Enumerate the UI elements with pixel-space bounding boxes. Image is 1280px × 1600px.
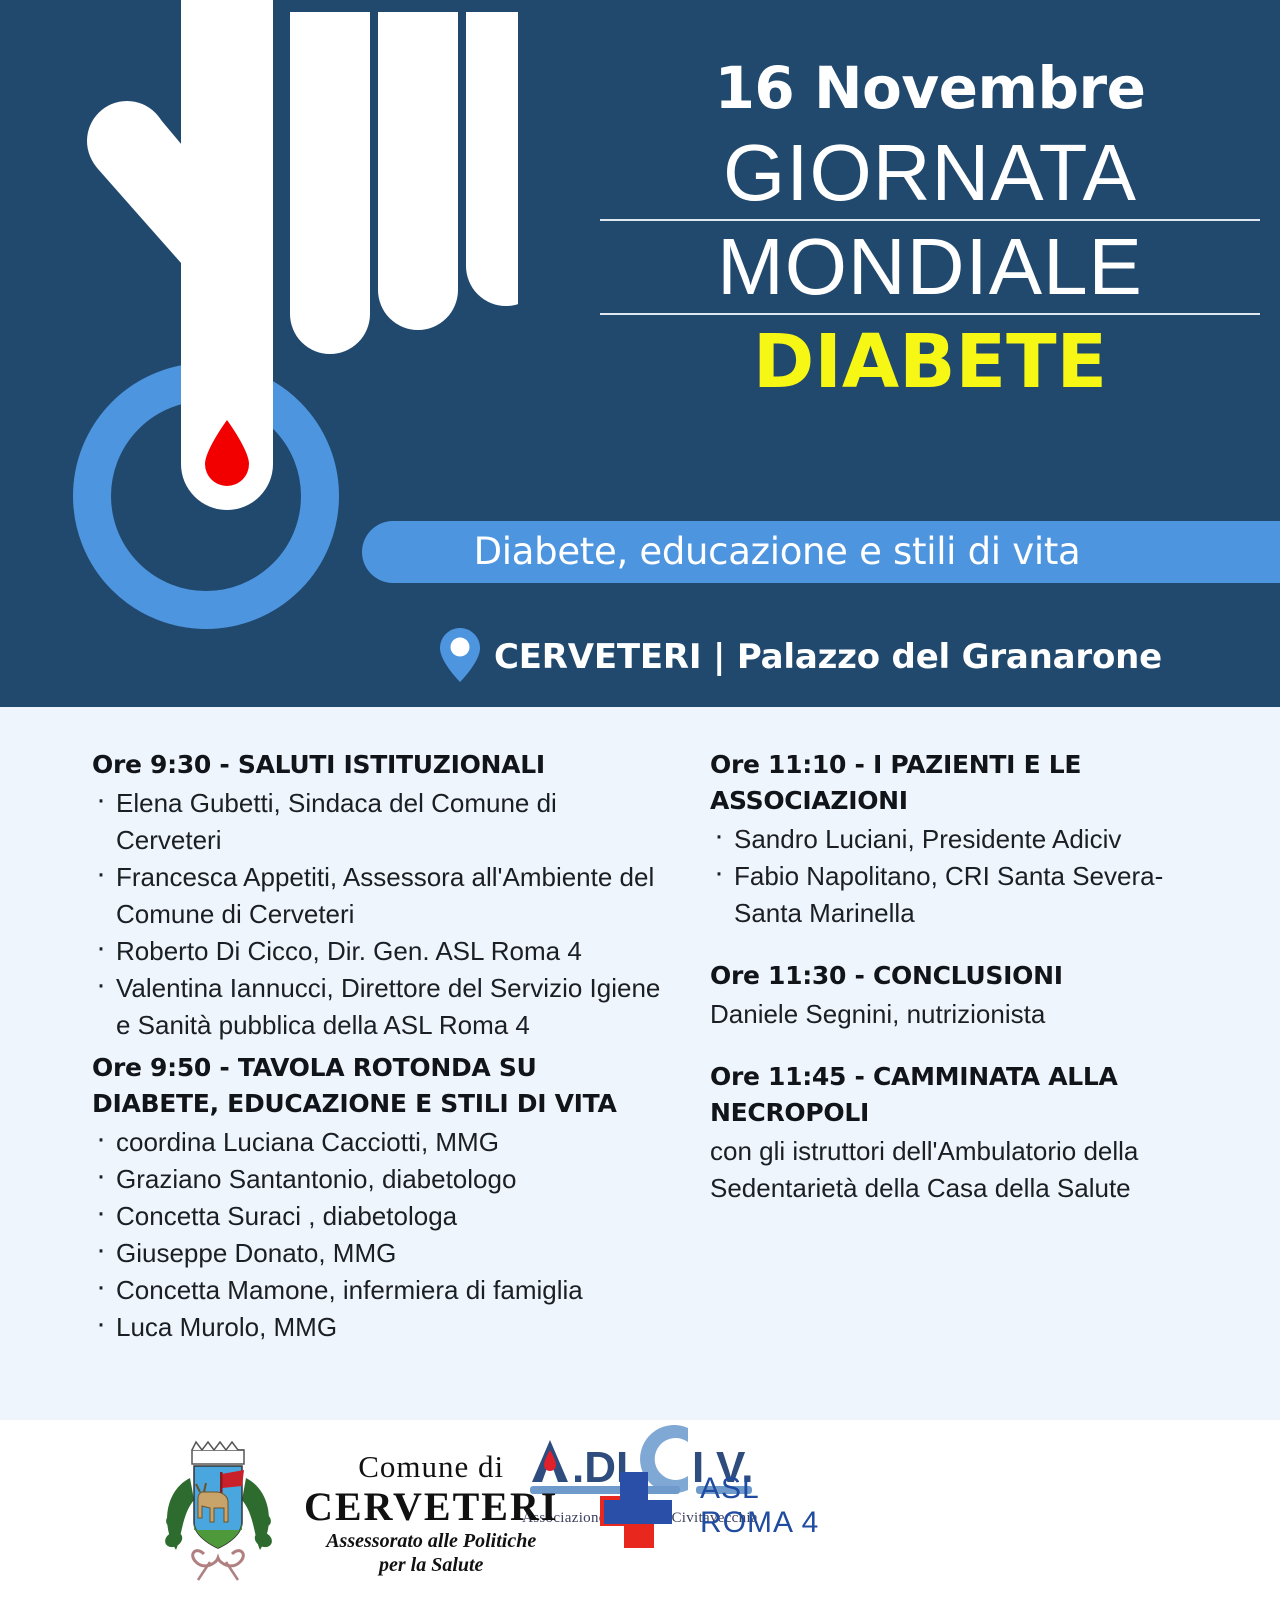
- comune-wordmark: Comune di CERVETERI Assessorato alle Pol…: [304, 1449, 558, 1577]
- logo-comune-cerveteri: Comune di CERVETERI Assessorato alle Pol…: [148, 1438, 558, 1588]
- title-line-1: GIORNATA: [600, 130, 1260, 216]
- subtitle-pill: Diabete, educazione e stili di vita: [362, 521, 1280, 583]
- hero-banner: 16 Novembre GIORNATA MONDIALE DIABETE Di…: [0, 0, 1280, 707]
- spacer: [710, 932, 1190, 958]
- list-item: Roberto Di Cicco, Dir. Gen. ASL Roma 4: [92, 933, 667, 970]
- location-line: CERVETERI | Palazzo del Granarone: [440, 626, 1200, 687]
- list-item: Fabio Napolitano, CRI Santa Severa-Santa…: [710, 858, 1190, 932]
- list-item: Valentina Iannucci, Direttore del Serviz…: [92, 970, 667, 1044]
- map-pin-icon: [440, 628, 480, 687]
- program-block: Ore 11:10 - I PAZIENTI E LE ASSOCIAZIONI…: [710, 747, 1190, 932]
- program-block: Ore 9:50 - TAVOLA ROTONDA SU DIABETE, ED…: [92, 1050, 667, 1346]
- program-block: Ore 9:30 - SALUTI ISTITUZIONALI Elena Gu…: [92, 747, 667, 1044]
- spacer: [710, 1033, 1190, 1059]
- list-item: Concetta Mamone, infermiera di famiglia: [92, 1272, 667, 1309]
- title-divider-top: [600, 219, 1260, 221]
- headline-block: 16 Novembre GIORNATA MONDIALE DIABETE: [600, 56, 1260, 403]
- program-column-left: Ore 9:30 - SALUTI ISTITUZIONALI Elena Gu…: [92, 747, 667, 1346]
- program-block-list: coordina Luciana Cacciotti, MMG Graziano…: [92, 1124, 667, 1346]
- program-column-right: Ore 11:10 - I PAZIENTI E LE ASSOCIAZIONI…: [710, 747, 1190, 1207]
- title-line-2: MONDIALE: [600, 224, 1260, 310]
- poster: 16 Novembre GIORNATA MONDIALE DIABETE Di…: [0, 0, 1280, 1600]
- program-block: Ore 11:30 - CONCLUSIONI Daniele Segnini,…: [710, 958, 1190, 1033]
- hand-illustration: [0, 0, 560, 707]
- list-item: Concetta Suraci , diabetologa: [92, 1198, 667, 1235]
- asl-wordmark: ASL ROMA 4: [700, 1472, 819, 1540]
- asl-line-2: ROMA 4: [700, 1506, 819, 1540]
- list-item: Giuseppe Donato, MMG: [92, 1235, 667, 1272]
- program-block-title: Ore 11:10 - I PAZIENTI E LE ASSOCIAZIONI: [710, 747, 1190, 819]
- title-divider-bottom: [600, 313, 1260, 315]
- event-date: 16 Novembre: [600, 56, 1260, 120]
- location-text: CERVETERI | Palazzo del Granarone: [494, 637, 1162, 677]
- program-block: Ore 11:45 - CAMMINATA ALLA NECROPOLI con…: [710, 1059, 1190, 1207]
- program-block-list: Elena Gubetti, Sindaca del Comune di Cer…: [92, 785, 667, 1044]
- comune-line-4: per la Salute: [304, 1553, 558, 1577]
- program-block-list: Sandro Luciani, Presidente Adiciv Fabio …: [710, 821, 1190, 932]
- title-highlight: DIABETE: [600, 321, 1260, 403]
- list-item: Luca Murolo, MMG: [92, 1309, 667, 1346]
- footer-logos: Comune di CERVETERI Assessorato alle Pol…: [0, 1420, 1280, 1600]
- program-block-title: Ore 9:50 - TAVOLA ROTONDA SU DIABETE, ED…: [92, 1050, 667, 1122]
- list-item: Elena Gubetti, Sindaca del Comune di Cer…: [92, 785, 667, 859]
- list-item: Francesca Appetiti, Assessora all'Ambien…: [92, 859, 667, 933]
- program-section: Ore 9:30 - SALUTI ISTITUZIONALI Elena Gu…: [0, 707, 1280, 1420]
- logo-asl-roma-4: ASL ROMA 4: [586, 1458, 819, 1554]
- asl-line-1: ASL: [700, 1472, 819, 1506]
- program-block-title: Ore 9:30 - SALUTI ISTITUZIONALI: [92, 747, 667, 783]
- asl-cross-icon: [586, 1458, 682, 1554]
- program-block-note: Daniele Segnini, nutrizionista: [710, 996, 1190, 1033]
- comune-line-3: Assessorato alle Politiche: [304, 1529, 558, 1553]
- list-item: Graziano Santantonio, diabetologo: [92, 1161, 667, 1198]
- program-block-note: con gli istruttori dell'Ambulatorio dell…: [710, 1133, 1190, 1207]
- program-block-title: Ore 11:30 - CONCLUSIONI: [710, 958, 1190, 994]
- list-item: coordina Luciana Cacciotti, MMG: [92, 1124, 667, 1161]
- list-item: Sandro Luciani, Presidente Adiciv: [710, 821, 1190, 858]
- comune-line-2: CERVETERI: [304, 1485, 558, 1529]
- program-block-title: Ore 11:45 - CAMMINATA ALLA NECROPOLI: [710, 1059, 1190, 1131]
- cerveteri-coat-of-arms-icon: [148, 1438, 288, 1588]
- subtitle-text: Diabete, educazione e stili di vita: [362, 521, 1192, 583]
- comune-line-1: Comune di: [304, 1449, 558, 1485]
